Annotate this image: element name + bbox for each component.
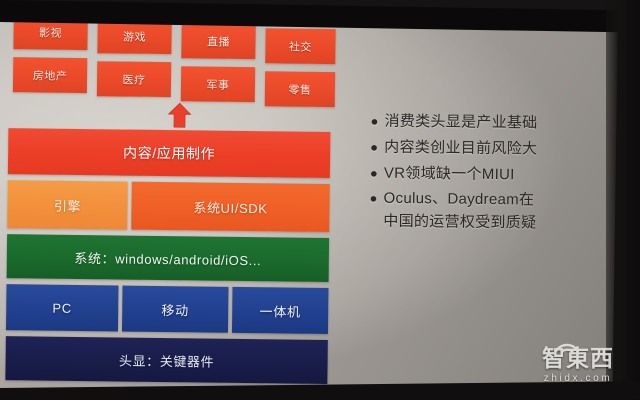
bullet-text: 消费类头显是产业基础 [384, 113, 610, 135]
bullet-text: Oculus、Daydream在 [383, 190, 609, 212]
bullet-list: ● 消费类头显是产业基础 ● 内容类创业目前风险大 ● VR领域缺一个MIUI … [369, 113, 611, 241]
app-box-label: 影视 [39, 24, 62, 40]
stack-cell-label: 一体机 [259, 301, 301, 321]
app-box-real-estate[interactable]: 房地产 [13, 57, 87, 93]
stack-cell-pc[interactable]: PC [6, 284, 119, 331]
stack-layer-label: 内容/应用制作 [123, 143, 215, 164]
app-box-label: 游戏 [123, 28, 146, 44]
stack-cell-system-ui-sdk[interactable]: 系统UI/SDK [131, 182, 330, 232]
bullet-text: 内容类创业目前风险大 [384, 138, 610, 160]
app-box-label: 医疗 [122, 71, 145, 87]
stack-cell-label: 移动 [161, 299, 189, 318]
bullet-text-continuation: 中国的运营权受到质疑 [383, 212, 609, 234]
stack-cell-label: PC [52, 300, 72, 315]
app-box-livestream[interactable]: 直播 [181, 23, 255, 59]
stack-layer-middleware: 引擎 系统UI/SDK [7, 180, 330, 232]
stack-cell-all-in-one[interactable]: 一体机 [232, 287, 329, 334]
app-box-label: 直播 [207, 33, 230, 49]
room-dark-edge-right [606, 0, 640, 400]
stack-cell-label: 引擎 [54, 195, 81, 214]
slide-content: 影视 游戏 直播 社交 房地产 医疗 军事 零售 [0, 0, 640, 400]
app-box-medical[interactable]: 医疗 [97, 61, 171, 97]
stack-layer-content-production[interactable]: 内容/应用制作 [8, 128, 331, 178]
slide-photograph: 影视 游戏 直播 社交 房地产 医疗 军事 零售 [0, 0, 640, 400]
bullet-item: ● VR领域缺一个MIUI [370, 164, 610, 186]
app-box-retail[interactable]: 零售 [265, 71, 335, 107]
bullet-item: ● 内容类创业目前风险大 [370, 138, 610, 160]
app-box-label: 社交 [289, 38, 312, 54]
bullet-marker-icon: ● [370, 164, 384, 182]
stack-cell-mobile[interactable]: 移动 [122, 286, 229, 333]
stack-cell-engine[interactable]: 引擎 [7, 180, 128, 229]
bullet-text: VR领域缺一个MIUI [384, 164, 610, 186]
stack-cell-label: 系统UI/SDK [193, 197, 267, 217]
stack-layer-operating-system[interactable]: 系统：windows/android/iOS... [7, 234, 330, 282]
bullet-marker-icon: ● [370, 138, 384, 156]
application-grid: 影视 游戏 直播 社交 房地产 医疗 军事 零售 [13, 14, 336, 100]
stack-layer-label: 头显：关键器件 [119, 350, 214, 370]
app-box-label: 房地产 [33, 67, 68, 83]
bullet-item: ● 消费类头显是产业基础 [370, 113, 610, 135]
technology-stack: 内容/应用制作 引擎 系统UI/SDK 系统：windows/android/i… [5, 128, 330, 384]
up-arrow-icon [166, 102, 192, 128]
app-box-military[interactable]: 军事 [181, 66, 255, 102]
stack-layer-headset-components[interactable]: 头显：关键器件 [5, 336, 328, 384]
app-box-label: 零售 [288, 81, 311, 97]
bullet-marker-icon: ● [369, 190, 383, 208]
stack-layer-label: 系统：windows/android/iOS... [74, 247, 261, 268]
stack-layer-devices: PC 移动 一体机 [6, 284, 329, 334]
app-box-label: 军事 [206, 76, 229, 92]
bullet-marker-icon: ● [370, 113, 384, 131]
app-box-social[interactable]: 社交 [265, 28, 335, 64]
bullet-item: ● Oculus、Daydream在 [369, 190, 609, 212]
